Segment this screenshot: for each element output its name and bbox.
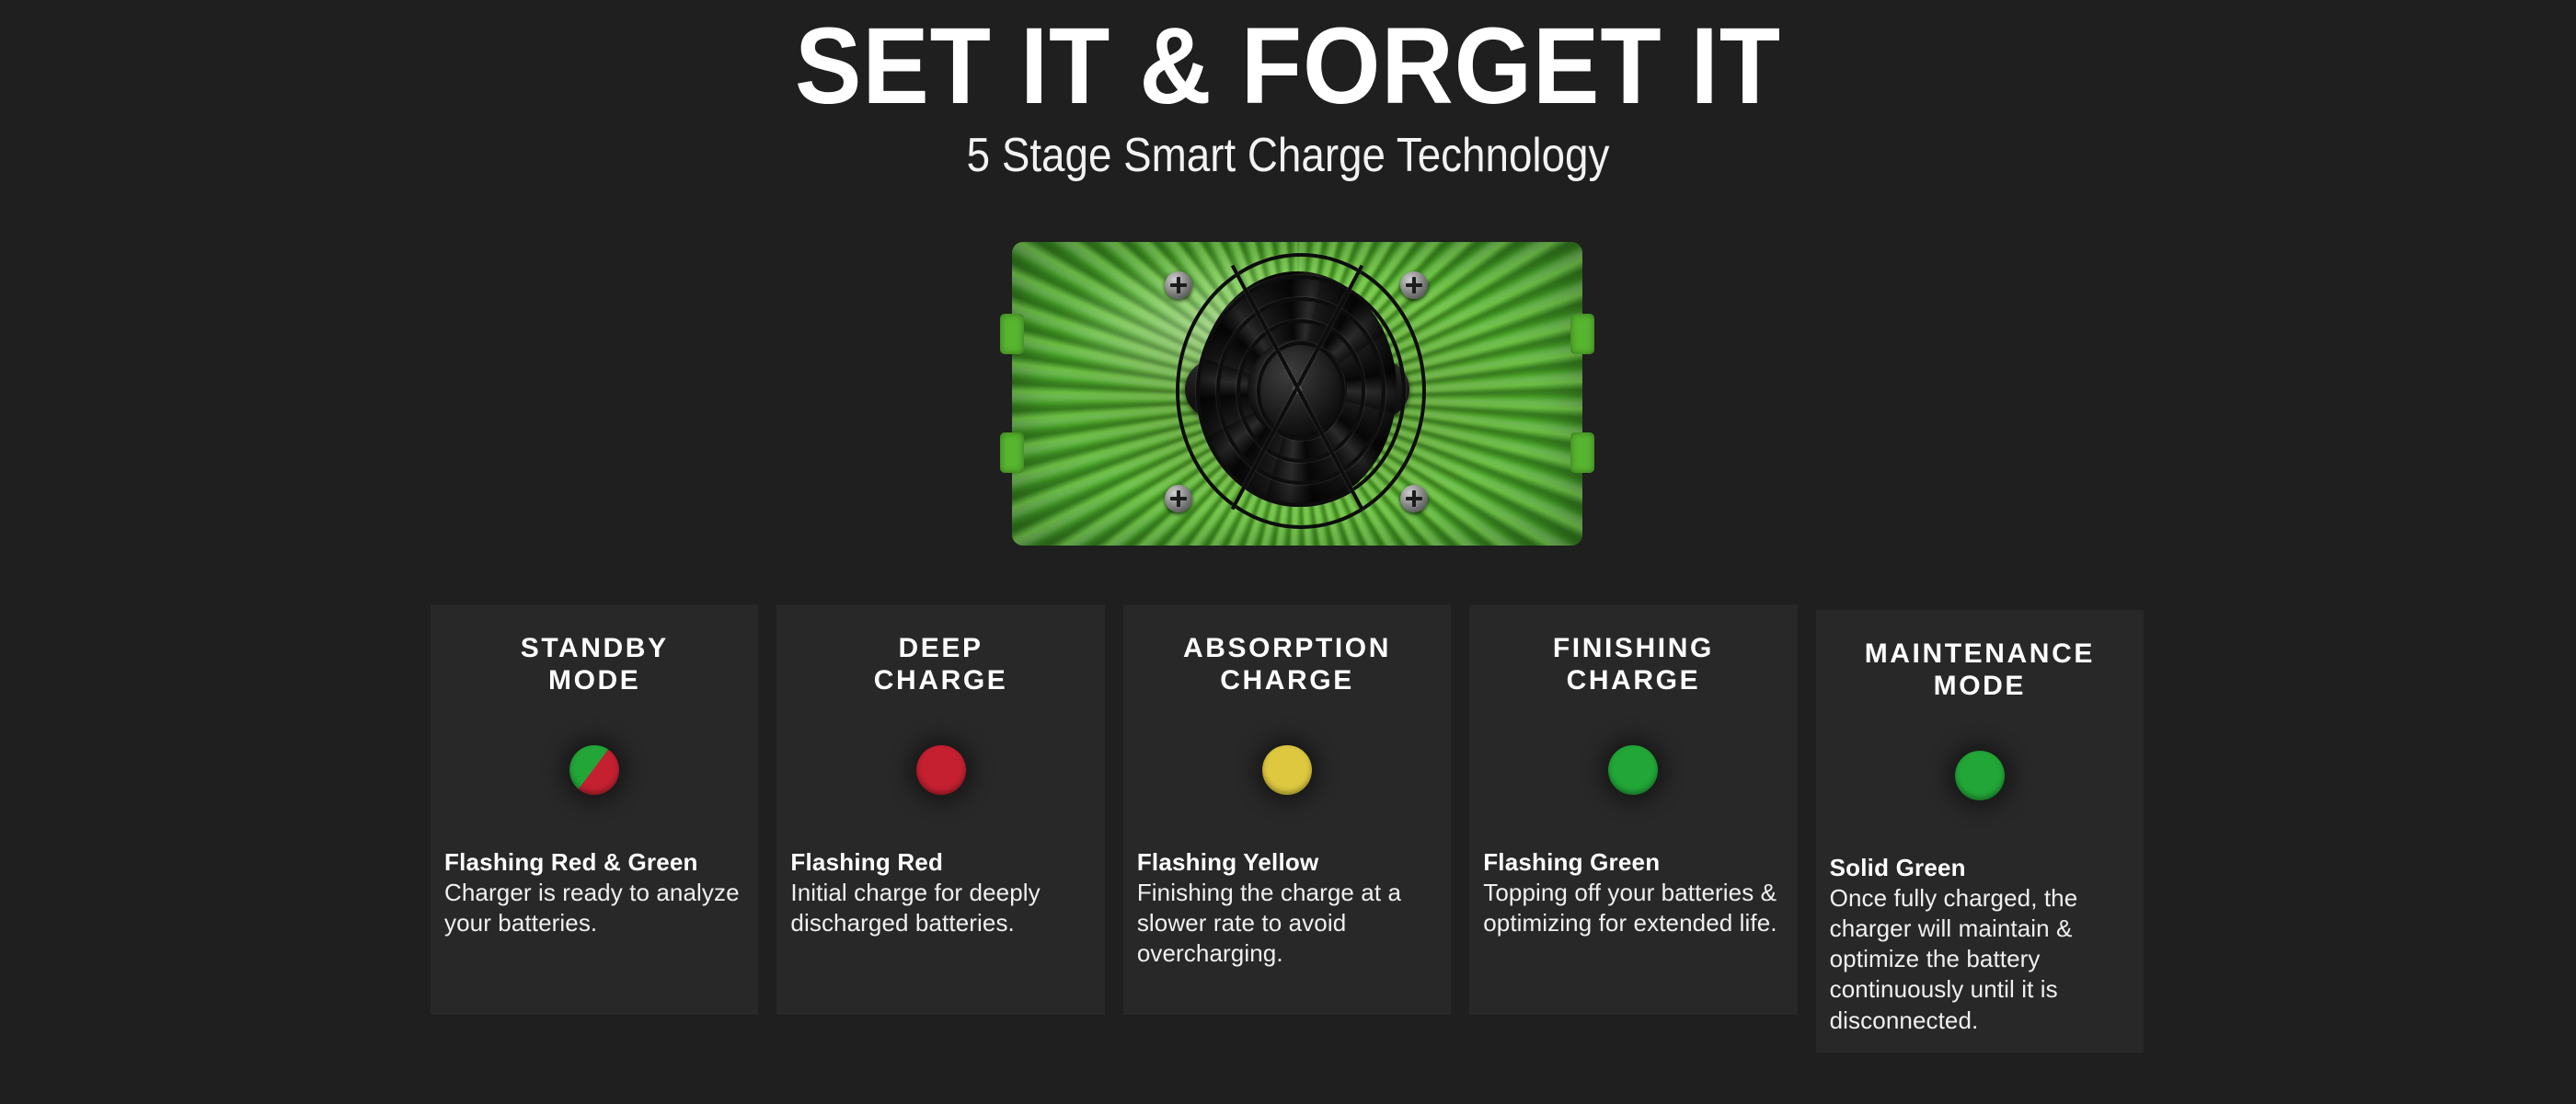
stage-title: MAINTENANCE MODE xyxy=(1830,638,2130,703)
mounting-tab xyxy=(1570,314,1594,354)
stage-body: Flashing Green Topping off your batterie… xyxy=(1483,848,1783,938)
stage-status-description: Finishing the charge at a slower rate to… xyxy=(1137,878,1437,970)
stage-body: Flashing Red Initial charge for deeply d… xyxy=(790,848,1090,938)
page-title: SET IT & FORGET IT xyxy=(103,0,2473,121)
stage-status-description: Once fully charged, the charger will mai… xyxy=(1830,883,2130,1036)
stage-status-description: Topping off your batteries & optimizing … xyxy=(1483,878,1783,939)
mounting-tab xyxy=(1570,432,1594,473)
stage-status-label: Flashing Yellow xyxy=(1137,848,1437,878)
screw-icon xyxy=(1165,271,1192,299)
mounting-tab xyxy=(1000,432,1024,473)
led-red-icon xyxy=(916,745,966,795)
stage-card-standby-mode: STANDBY MODE Flashing Red & Green Charge… xyxy=(431,604,758,1015)
stage-title: DEEP CHARGE xyxy=(790,632,1090,697)
stage-body: Solid Green Once fully charged, the char… xyxy=(1830,854,2130,1036)
led-indicator-wrap xyxy=(790,736,1090,804)
stage-card-absorption-charge: ABSORPTION CHARGE Flashing Yellow Finish… xyxy=(1123,604,1451,1015)
page-subtitle: 5 Stage Smart Charge Technology xyxy=(155,121,2421,181)
stage-status-label: Flashing Green xyxy=(1483,848,1783,878)
stage-card-finishing-charge: FINISHING CHARGE Flashing Green Topping … xyxy=(1469,604,1797,1015)
stage-card-deep-charge: DEEP CHARGE Flashing Red Initial charge … xyxy=(776,604,1104,1015)
stage-status-description: Charger is ready to analyze your batteri… xyxy=(444,878,744,939)
stage-title: ABSORPTION CHARGE xyxy=(1137,632,1437,697)
stage-title: FINISHING CHARGE xyxy=(1483,632,1783,697)
led-indicator-wrap xyxy=(1137,736,1437,804)
stage-status-label: Flashing Red xyxy=(790,848,1090,878)
led-indicator-wrap xyxy=(444,736,744,804)
header: SET IT & FORGET IT 5 Stage Smart Charge … xyxy=(0,0,2576,181)
page-root: SET IT & FORGET IT 5 Stage Smart Charge … xyxy=(0,0,2576,1104)
led-indicator-wrap xyxy=(1483,736,1783,804)
led-green-icon xyxy=(1608,745,1658,795)
led-green-icon xyxy=(1955,751,2005,800)
led-yellow-icon xyxy=(1262,745,1312,795)
product-image-charger xyxy=(998,235,1596,552)
stage-status-label: Flashing Red & Green xyxy=(444,848,744,878)
stage-status-description: Initial charge for deeply discharged bat… xyxy=(790,878,1090,939)
stage-card-row: STANDBY MODE Flashing Red & Green Charge… xyxy=(431,604,2144,1052)
stage-body: Flashing Red & Green Charger is ready to… xyxy=(444,848,744,938)
heatsink-housing xyxy=(998,235,1596,552)
stage-status-label: Solid Green xyxy=(1830,854,2130,883)
mounting-tab xyxy=(1000,314,1024,354)
screw-icon xyxy=(1400,271,1428,299)
led-indicator-wrap xyxy=(1830,742,2130,810)
stage-body: Flashing Yellow Finishing the charge at … xyxy=(1137,848,1437,970)
screw-icon xyxy=(1400,485,1428,512)
led-split-red-green-icon xyxy=(569,745,619,795)
screw-icon xyxy=(1165,485,1192,512)
stage-title: STANDBY MODE xyxy=(444,632,744,697)
cooling-fan-icon xyxy=(1159,251,1435,527)
stage-card-maintenance-mode: MAINTENANCE MODE Solid Green Once fully … xyxy=(1816,610,2144,1052)
